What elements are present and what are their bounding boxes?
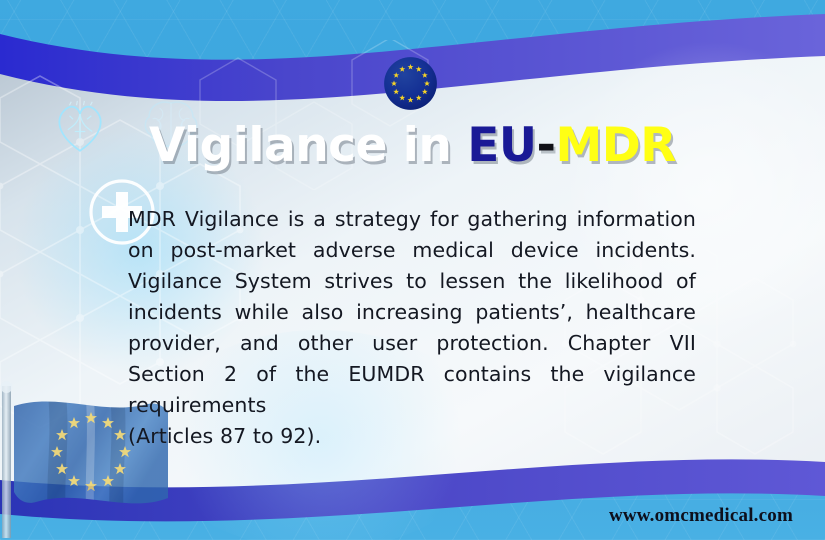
website-url[interactable]: www.omcmedical.com xyxy=(609,505,793,527)
poster-canvas: Vigilance in EU-MDR MDR Vigilance is a s… xyxy=(0,0,825,540)
title-part-eu: EU xyxy=(467,118,536,173)
body-last-line: (Articles 87 to 92). xyxy=(128,421,696,452)
body-paragraph: MDR Vigilance is a strategy for gatherin… xyxy=(128,204,696,452)
page-title: Vigilance in EU-MDR xyxy=(0,122,825,169)
eu-flag-emblem xyxy=(383,56,438,111)
title-part-vigilance-in: Vigilance in xyxy=(149,118,467,173)
body-text: MDR Vigilance is a strategy for gatherin… xyxy=(128,207,696,417)
title-part-mdr: MDR xyxy=(556,118,676,173)
title-dash: - xyxy=(537,118,556,173)
